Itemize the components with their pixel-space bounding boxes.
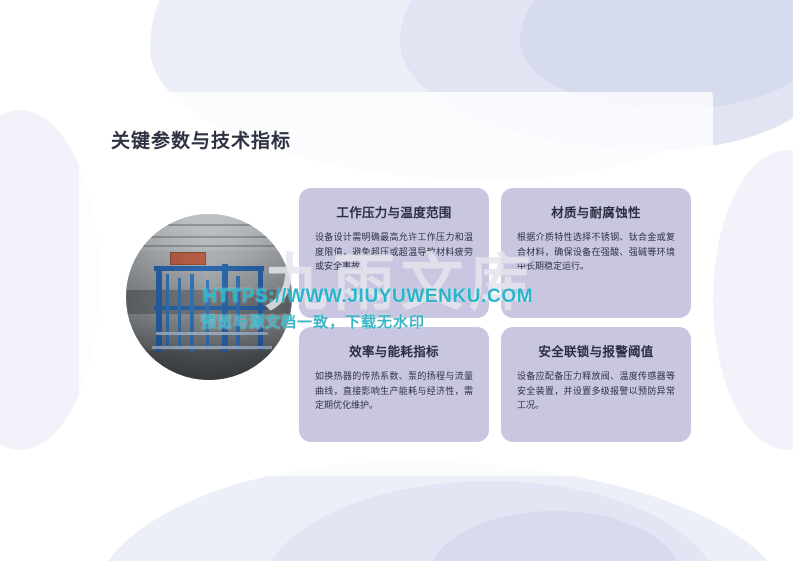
feature-box-4: 安全联锁与报警阈值 设备应配备压力释放阀、温度传感器等安全装置，并设置多级报警以… bbox=[501, 327, 691, 442]
background-blob-right bbox=[713, 150, 793, 450]
feature-box-4-body: 设备应配备压力释放阀、温度传感器等安全装置，并设置多级报警以预防异常工况。 bbox=[517, 369, 675, 413]
feature-box-2-title: 材质与耐腐蚀性 bbox=[517, 202, 675, 221]
feature-box-4-title: 安全联锁与报警阈值 bbox=[517, 341, 675, 360]
feature-box-3: 效率与能耗指标 如换热器的传热系数、泵的扬程与流量曲线，直接影响生产能耗与经济性… bbox=[299, 327, 489, 442]
feature-box-3-title: 效率与能耗指标 bbox=[315, 341, 473, 360]
photo-vignette bbox=[126, 214, 292, 380]
feature-box-3-body: 如换热器的传热系数、泵的扬程与流量曲线，直接影响生产能耗与经济性，需定期优化维护… bbox=[315, 369, 473, 413]
page-title: 关键参数与技术指标 bbox=[111, 126, 291, 153]
feature-box-2: 材质与耐腐蚀性 根据介质特性选择不锈钢、钛合金或复合材料，确保设备在强酸、强碱等… bbox=[501, 188, 691, 318]
industrial-equipment-photo bbox=[126, 214, 292, 380]
feature-box-1-body: 设备设计需明确最高允许工作压力和温度限值，避免超压或超温导致材料疲劳或安全事故。 bbox=[315, 230, 473, 274]
feature-box-1-title: 工作压力与温度范围 bbox=[315, 202, 473, 221]
feature-box-2-body: 根据介质特性选择不锈钢、钛合金或复合材料，确保设备在强酸、强碱等环境中长期稳定运… bbox=[517, 230, 675, 274]
slide-canvas: 关键参数与技术指标 工 bbox=[0, 0, 793, 561]
feature-box-1: 工作压力与温度范围 设备设计需明确最高允许工作压力和温度限值，避免超压或超温导致… bbox=[299, 188, 489, 318]
photo-inner bbox=[126, 214, 292, 380]
